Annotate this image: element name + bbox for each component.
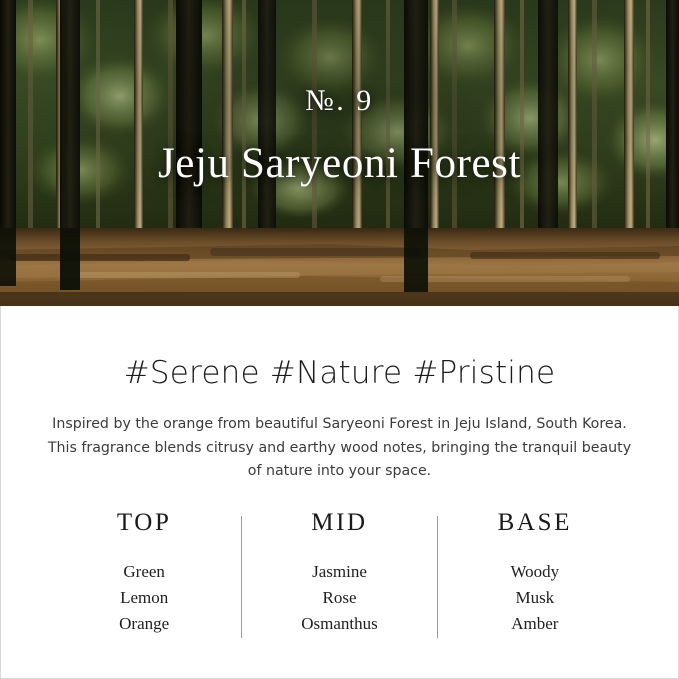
note-item: Rose <box>242 585 436 611</box>
note-column-mid: MID Jasmine Rose Osmanthus <box>242 510 436 638</box>
note-list: Green Lemon Orange <box>47 559 241 638</box>
note-item: Green <box>47 559 241 585</box>
note-item: Osmanthus <box>242 611 436 637</box>
note-column-base: BASE Woody Musk Amber <box>438 510 632 638</box>
fragrance-notes: TOP Green Lemon Orange MID Jasmine Rose … <box>1 510 678 638</box>
forest-photo <box>0 0 679 306</box>
description-line: Inspired by the orange from beautiful Sa… <box>47 413 632 437</box>
details-panel: #Serene #Nature #Pristine Inspired by th… <box>0 306 679 679</box>
note-list: Woody Musk Amber <box>438 559 632 638</box>
note-list: Jasmine Rose Osmanthus <box>242 559 436 638</box>
hero-banner: №. 9 Jeju Saryeoni Forest <box>0 0 679 306</box>
note-heading: MID <box>242 510 436 535</box>
hashtag-heading: #Serene #Nature #Pristine <box>1 306 678 389</box>
note-item: Orange <box>47 611 241 637</box>
note-item: Lemon <box>47 585 241 611</box>
note-item: Amber <box>438 611 632 637</box>
description-line: of nature into your space. <box>47 460 632 484</box>
fragrance-product-card: №. 9 Jeju Saryeoni Forest #Serene #Natur… <box>0 0 679 679</box>
note-item: Woody <box>438 559 632 585</box>
note-item: Jasmine <box>242 559 436 585</box>
note-heading: BASE <box>438 510 632 535</box>
note-column-top: TOP Green Lemon Orange <box>47 510 241 638</box>
note-item: Musk <box>438 585 632 611</box>
note-heading: TOP <box>47 510 241 535</box>
description-line: This fragrance blends citrusy and earthy… <box>47 437 632 461</box>
product-description: Inspired by the orange from beautiful Sa… <box>47 413 632 484</box>
